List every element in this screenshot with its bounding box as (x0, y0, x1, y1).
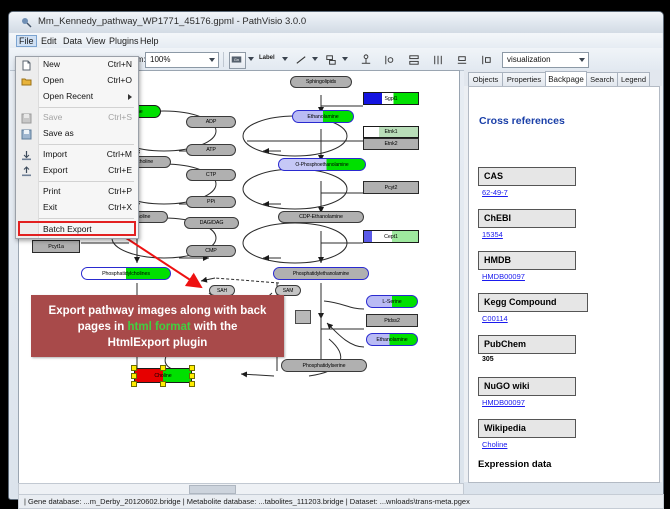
menu-label: Save as (43, 128, 74, 138)
menu-label: Open (43, 75, 64, 85)
menu-item-print[interactable]: Print Ctrl+P (16, 184, 138, 200)
menu-label: Open Recent (43, 91, 93, 101)
application-window: Mm_Kennedy_pathway_WP1771_45176.gpml - P… (8, 11, 664, 500)
save-disk-icon (21, 113, 32, 124)
menu-accel: Ctrl+M (107, 149, 132, 159)
menu-item-import[interactable]: Import Ctrl+M (16, 147, 138, 163)
menu-accel: Ctrl+S (108, 112, 132, 122)
menu-item-new[interactable]: New Ctrl+N (16, 57, 138, 73)
menu-label: Print (43, 186, 60, 196)
menu-item-exit[interactable]: Exit Ctrl+X (16, 200, 138, 216)
menu-label: Save (43, 112, 62, 122)
screenshot-root: Mm_Kennedy_pathway_WP1771_45176.gpml - P… (0, 0, 670, 509)
menu-accel: Ctrl+P (108, 186, 132, 196)
menu-item-batch-export[interactable]: Batch Export (16, 221, 138, 238)
open-folder-icon (21, 76, 32, 87)
menu-item-export[interactable]: Export Ctrl+E (16, 163, 138, 179)
save-as-icon (21, 129, 32, 140)
export-icon (21, 166, 32, 177)
menu-accel: Ctrl+O (107, 75, 132, 85)
menu-accel: Ctrl+N (108, 59, 132, 69)
file-menu-dropdown[interactable]: New Ctrl+N Open Ctrl+O Open Recent Save … (15, 56, 139, 239)
new-file-icon (21, 60, 32, 71)
menu-label: Batch Export (43, 224, 92, 234)
menu-label: New (43, 59, 60, 69)
menu-item-save-as[interactable]: Save as (16, 126, 138, 142)
menu-item-open[interactable]: Open Ctrl+O (16, 73, 138, 89)
menu-label: Export (43, 165, 68, 175)
submenu-arrow-icon (128, 94, 132, 100)
menu-accel: Ctrl+X (108, 202, 132, 212)
menu-item-open-recent[interactable]: Open Recent (16, 89, 138, 105)
menu-item-save: Save Ctrl+S (16, 110, 138, 126)
import-icon (21, 150, 32, 161)
menu-label: Exit (43, 202, 57, 212)
menu-accel: Ctrl+E (108, 165, 132, 175)
menu-label: Import (43, 149, 67, 159)
